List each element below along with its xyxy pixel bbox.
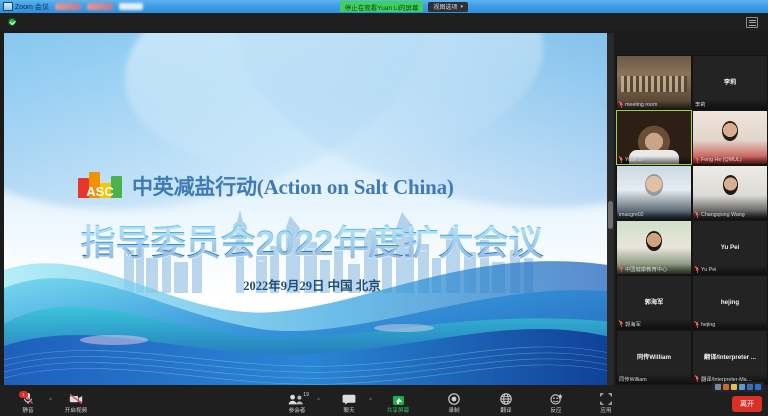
participant-name: hejing [701, 322, 715, 328]
microphone-muted-icon [695, 157, 699, 163]
apps-label: 应用 [600, 406, 611, 414]
participants-label: 参会者 [289, 406, 306, 414]
start-video-label: 开启视频 [65, 406, 87, 414]
vertical-scrollbar[interactable] [607, 33, 614, 385]
participant-name-bar: Changqiong Wang [693, 211, 767, 220]
scrollbar-thumb[interactable] [608, 201, 613, 229]
participant-name-bar: Yuan Li [617, 156, 691, 165]
microphone-muted-icon [695, 322, 699, 328]
microphone-muted-icon [619, 266, 623, 272]
meeting-top-strip [0, 13, 768, 31]
mute-label: 静音 [22, 406, 33, 414]
window-title-bar: Zoom 会议 停止在观看Yuan Li的屏幕 视图选项 ▾ [0, 0, 768, 13]
participant-name: Feng He (QMUL) [701, 157, 742, 163]
record-label: 录制 [448, 406, 459, 414]
chevron-down-icon: ▾ [460, 4, 463, 10]
asc-logo: ASC [78, 172, 122, 198]
record-icon [448, 392, 460, 405]
share-screen-label: 共享屏幕 [387, 406, 409, 414]
zoom-meeting-window: Zoom 会议 停止在观看Yuan Li的屏幕 视图选项 ▾ [0, 0, 768, 416]
participant-tile[interactable]: hejinghejing [692, 275, 768, 330]
asc-logo-text: ASC [78, 185, 122, 198]
camera-off-icon [69, 392, 83, 405]
participants-button[interactable]: 19 参会者 [277, 392, 317, 415]
mute-options-caret[interactable]: ^ [47, 398, 54, 405]
shared-screen-slide[interactable]: ASC 中英减盐行动(Action on Salt China) 指导委员会20… [4, 33, 614, 385]
slide-subtitle: 2022年9月29日 中国 北京 [52, 275, 572, 294]
participant-name: 同传William [619, 375, 647, 383]
view-options-button[interactable]: 视图选项 ▾ [428, 2, 468, 12]
microphone-muted-icon [619, 102, 623, 108]
microphone-muted-icon [695, 212, 699, 218]
meeting-toolbar: 1 静音 ^ 开启视频 1 [0, 385, 768, 416]
microphone-muted-icon [695, 376, 699, 382]
participant-tile[interactable]: Feng He (QMUL) [692, 110, 768, 165]
screen-share-banner[interactable]: 停止在观看Yuan Li的屏幕 [340, 1, 424, 12]
participant-tile[interactable]: Changqiong Wang [692, 165, 768, 220]
share-screen-icon [393, 392, 404, 405]
participant-name: Yu Pei [701, 267, 716, 273]
apps-icon [600, 392, 612, 405]
slide-heading: 中英减盐行动(Action on Salt China) [132, 171, 552, 201]
recording-indicator-icon[interactable] [8, 18, 16, 26]
participant-name-bar: Feng He (QMUL) [693, 156, 767, 165]
participant-name: 中国健康教育中心 [625, 265, 667, 273]
participants-icon: 19 [288, 392, 306, 405]
participant-tile[interactable]: 中国健康教育中心 [616, 220, 692, 275]
participant-tile[interactable]: Yuan Li [616, 110, 692, 165]
participant-name-bar: Yu Pei [693, 266, 767, 275]
redacted-text-2 [87, 3, 113, 10]
share-screen-button[interactable]: 共享屏幕 [378, 392, 418, 415]
participant-name: 李莉 [695, 100, 706, 108]
participants-count: 19 [303, 392, 309, 398]
leave-button[interactable]: 离开 [732, 396, 762, 412]
microphone-muted-icon [619, 157, 623, 163]
panel-menu-icon[interactable] [746, 17, 758, 28]
zoom-app-icon [3, 2, 13, 11]
participant-name-bar: 同传William [617, 374, 691, 385]
participants-options-caret[interactable]: ^ [315, 398, 322, 405]
mute-badge: 1 [19, 391, 28, 398]
window-title: Zoom 会议 [15, 2, 49, 12]
system-tray[interactable] [712, 382, 764, 392]
microphone-muted-icon [695, 267, 699, 273]
participant-tile[interactable]: 翻译/Interpreter ...翻译/Interpreter-Ma… [692, 330, 768, 385]
redacted-text-1 [55, 3, 81, 10]
chat-icon [342, 392, 356, 405]
reactions-button[interactable]: 反应 [536, 392, 576, 415]
interpretation-label: 翻译 [500, 406, 511, 414]
record-button[interactable]: 录制 [434, 392, 474, 415]
participant-name: meeting room [625, 102, 657, 108]
microphone-muted-icon: 1 [22, 392, 34, 405]
reactions-label: 反应 [550, 406, 561, 414]
participant-tile[interactable]: 李莉李莉 [692, 55, 768, 110]
chat-button[interactable]: 聊天 [329, 392, 369, 415]
redacted-text-3 [119, 3, 143, 10]
participant-name-bar: imacgre02 [617, 211, 691, 220]
participant-name-bar: 李莉 [693, 99, 767, 110]
participant-tile[interactable]: imacgre02 [616, 165, 692, 220]
participant-name: imacgre02 [619, 212, 644, 218]
participant-name-bar: hejing [693, 321, 767, 330]
participant-tile[interactable]: Yu PeiYu Pei [692, 220, 768, 275]
participant-video-panel: meeting room李莉李莉Yuan LiFeng He (QMUL)ima… [616, 55, 768, 385]
view-options-label: 视图选项 [433, 2, 457, 11]
participant-name: Changqiong Wang [701, 212, 745, 218]
apps-button[interactable]: 应用 [586, 392, 626, 415]
participant-name-bar: meeting room [617, 101, 691, 110]
globe-icon [500, 392, 512, 405]
participant-tile[interactable]: 同传William同传William [616, 330, 692, 385]
chat-options-caret[interactable]: ^ [367, 398, 374, 405]
participant-name: Yuan Li [625, 157, 643, 163]
slide-title: 指导委员会2022年度扩大会议 [52, 215, 572, 266]
slide-wave-graphic [4, 250, 614, 385]
participant-tile[interactable]: meeting room [616, 55, 692, 110]
chat-label: 聊天 [343, 406, 354, 414]
participant-name: 郭海军 [625, 320, 641, 328]
mute-button[interactable]: 1 静音 [8, 392, 48, 415]
interpretation-button[interactable]: 翻译 [486, 392, 526, 415]
reactions-icon [550, 392, 563, 405]
start-video-button[interactable]: 开启视频 [56, 392, 96, 415]
participant-name-bar: 中国健康教育中心 [617, 264, 691, 275]
participant-tile[interactable]: 郭海军郭海军 [616, 275, 692, 330]
microphone-muted-icon [619, 321, 623, 327]
participant-name-bar: 郭海军 [617, 319, 691, 330]
